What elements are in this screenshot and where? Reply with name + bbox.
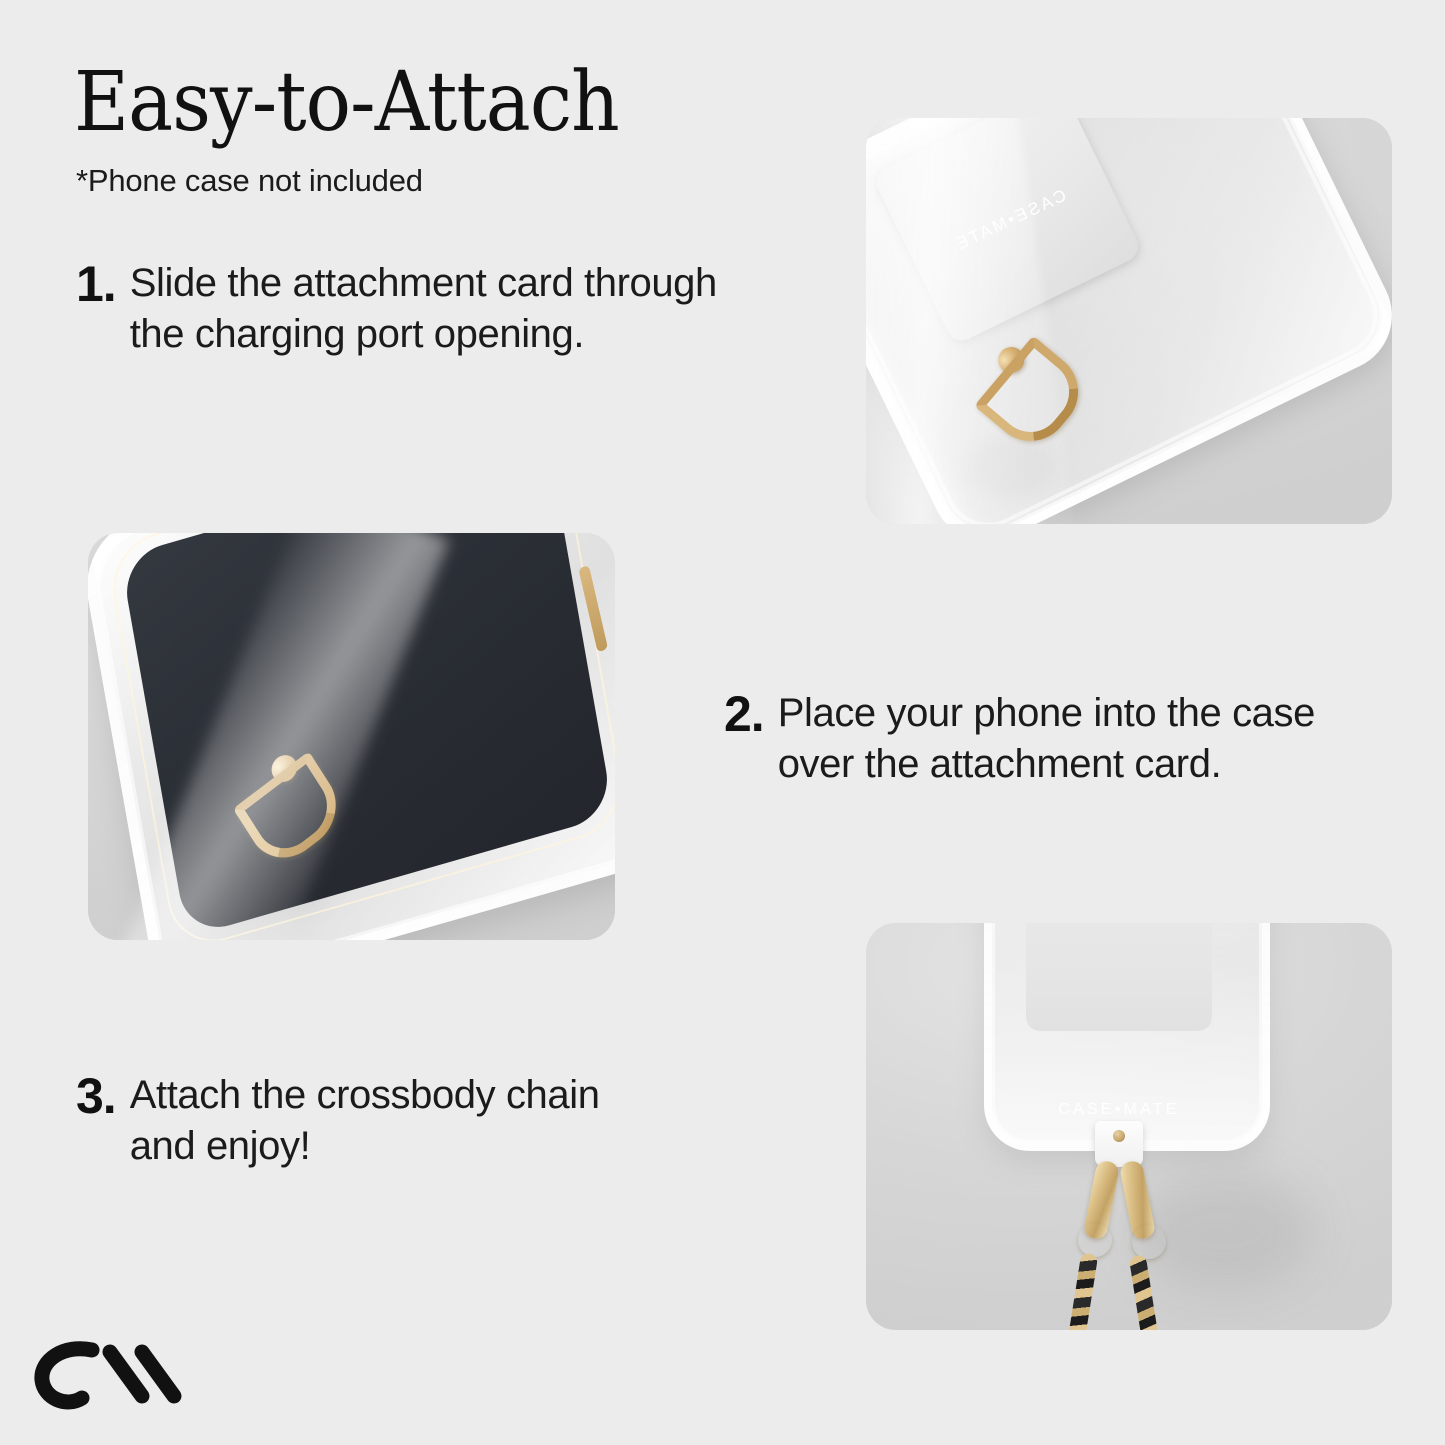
step-3: 3. Attach the crossbody chain and enjoy!	[76, 1070, 776, 1172]
step-1-line-2: the charging port opening.	[130, 309, 717, 360]
clear-case-bottom-image: CASE•MATE	[984, 923, 1270, 1151]
case-brand-text: CASE•MATE	[992, 1101, 1246, 1119]
step-3-line-1: Attach the crossbody chain	[130, 1070, 600, 1121]
step-3-photo: CASE•MATE	[866, 923, 1392, 1330]
step-2-text: Place your phone into the case over the …	[778, 688, 1315, 790]
tab-eyelet-icon	[1113, 1130, 1125, 1142]
disclaimer-text: *Phone case not included	[76, 164, 423, 198]
page-title: Easy-to-Attach	[74, 62, 619, 144]
step-3-line-2: and enjoy!	[130, 1121, 600, 1172]
chain-loop-right-icon	[1132, 1225, 1166, 1259]
infographic-page: Easy-to-Attach *Phone case not included …	[0, 0, 1445, 1445]
step-2-line-1: Place your phone into the case	[778, 688, 1315, 739]
step-1: 1. Slide the attachment card through the…	[76, 258, 876, 360]
step-1-photo: CASE•MATE	[866, 118, 1392, 524]
case-mate-logo	[30, 1336, 190, 1422]
step-2-line-2: over the attachment card.	[778, 739, 1315, 790]
step-3-number: 3.	[76, 1070, 130, 1122]
chain-loop-left-icon	[1078, 1223, 1112, 1257]
step-1-line-1: Slide the attachment card through	[130, 258, 717, 309]
step-2-number: 2.	[724, 688, 778, 740]
step-2-photo	[88, 533, 615, 940]
step-2: 2. Place your phone into the case over t…	[724, 688, 1424, 790]
attachment-tab	[1095, 1121, 1143, 1167]
attachment-card	[1026, 923, 1212, 1031]
step-1-number: 1.	[76, 258, 130, 310]
step-3-text: Attach the crossbody chain and enjoy!	[130, 1070, 600, 1172]
step-1-text: Slide the attachment card through the ch…	[130, 258, 717, 360]
